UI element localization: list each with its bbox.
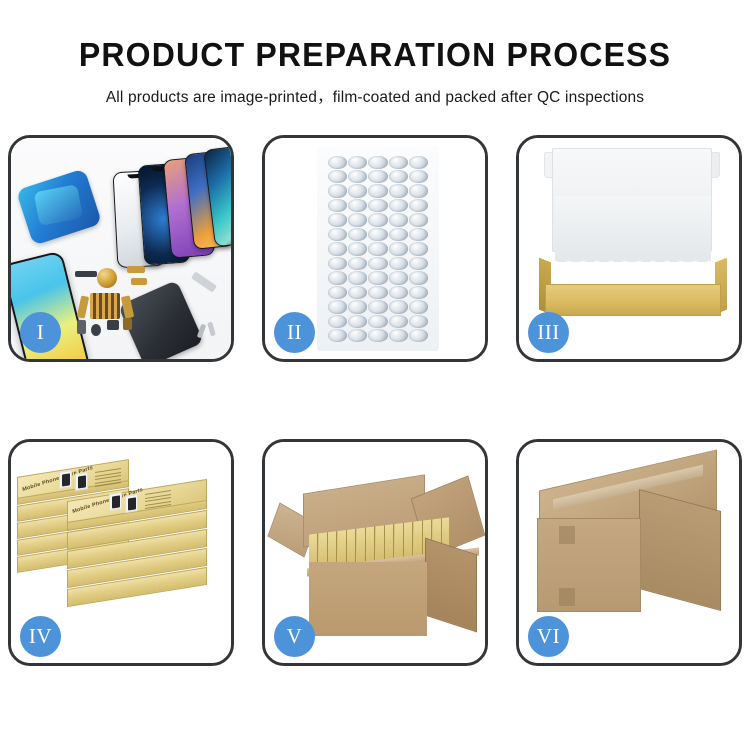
box-product-photo xyxy=(75,472,88,491)
step-badge-4: IV xyxy=(20,616,61,657)
process-step-panel-2: II xyxy=(262,135,488,362)
bubble xyxy=(348,228,367,241)
bubble xyxy=(348,257,367,270)
step-badge-3: III xyxy=(528,312,569,353)
process-step-panel-5: V xyxy=(262,439,488,666)
kraft-box-front xyxy=(545,284,721,316)
bubble xyxy=(328,242,347,255)
speaker-coil-part xyxy=(97,268,117,288)
process-step-panel-4: Mobile Phone Spare PartsMobile Phone Spa… xyxy=(8,439,234,666)
bubble xyxy=(409,184,428,197)
carton-flap-seam xyxy=(559,588,575,606)
bubble xyxy=(368,242,387,255)
box-product-photo xyxy=(125,494,138,513)
bubble xyxy=(368,199,387,212)
bubble xyxy=(328,271,347,284)
bubble xyxy=(328,315,347,328)
bubble xyxy=(389,300,408,313)
bubble xyxy=(348,329,367,342)
step-badge-1: I xyxy=(20,312,61,353)
bubble xyxy=(409,228,428,241)
bubble xyxy=(409,242,428,255)
carton-front xyxy=(309,562,427,636)
connector-grid-part xyxy=(90,293,120,319)
box-product-photo xyxy=(59,470,72,489)
bubble xyxy=(348,286,367,299)
bubble xyxy=(389,315,408,328)
bubble xyxy=(348,184,367,197)
bubble xyxy=(328,156,347,169)
carton-side-right xyxy=(425,538,477,633)
bubble xyxy=(328,213,347,226)
bubble xyxy=(328,228,347,241)
bubble xyxy=(409,257,428,270)
bubble xyxy=(368,300,387,313)
carton-flap-seam xyxy=(559,526,575,544)
bubble xyxy=(328,170,347,183)
bubble-wrapped-contents xyxy=(549,256,717,286)
header: PRODUCT PREPARATION PROCESS All products… xyxy=(0,0,750,107)
bubble xyxy=(328,300,347,313)
bubble xyxy=(409,213,428,226)
bubble xyxy=(389,329,408,342)
bubble xyxy=(348,242,367,255)
bubble xyxy=(328,184,347,197)
bubble xyxy=(389,257,408,270)
step-badge-2: II xyxy=(274,312,315,353)
bubble xyxy=(328,257,347,270)
bubble xyxy=(368,271,387,284)
bubble xyxy=(389,213,408,226)
bubble xyxy=(409,199,428,212)
spare-part xyxy=(107,320,119,330)
bubble xyxy=(409,156,428,169)
bubble-wrap-pouch xyxy=(317,146,439,351)
bubble xyxy=(368,156,387,169)
spare-part xyxy=(131,278,147,285)
step-badge-5: V xyxy=(274,616,315,657)
bubble xyxy=(368,315,387,328)
bubble xyxy=(368,286,387,299)
product-preparation-infographic: PRODUCT PREPARATION PROCESS All products… xyxy=(0,0,750,750)
bubble xyxy=(368,329,387,342)
bubble xyxy=(348,271,367,284)
foam-insert xyxy=(555,196,711,262)
process-steps-grid: I II III xyxy=(8,135,742,666)
bubble xyxy=(389,170,408,183)
bubble xyxy=(389,228,408,241)
step-badge-6: VI xyxy=(528,616,569,657)
sealed-carton-side xyxy=(639,489,721,611)
bubble xyxy=(328,329,347,342)
spare-part xyxy=(91,324,101,336)
bubble xyxy=(328,286,347,299)
bubble xyxy=(368,228,387,241)
bubble xyxy=(389,286,408,299)
bubble xyxy=(409,329,428,342)
bubble xyxy=(348,213,367,226)
spare-part xyxy=(75,271,97,277)
bubble xyxy=(389,156,408,169)
bubble xyxy=(409,271,428,284)
bubble xyxy=(368,257,387,270)
bubble xyxy=(368,213,387,226)
spare-part xyxy=(77,320,86,334)
bubble xyxy=(409,170,428,183)
page-title: PRODUCT PREPARATION PROCESS xyxy=(11,36,739,74)
spare-part xyxy=(127,266,145,273)
bubble xyxy=(348,199,367,212)
bubble xyxy=(389,184,408,197)
sealed-carton-front xyxy=(537,518,641,612)
bubble-field xyxy=(327,155,429,343)
process-step-panel-6: VI xyxy=(516,439,742,666)
bubble xyxy=(389,271,408,284)
bubble xyxy=(409,286,428,299)
bubble xyxy=(368,170,387,183)
bubble xyxy=(389,199,408,212)
bubble xyxy=(348,170,367,183)
process-step-panel-1: I xyxy=(8,135,234,362)
bubble xyxy=(368,184,387,197)
process-step-panel-3: III xyxy=(516,135,742,362)
page-subtitle: All products are image-printed，film-coat… xyxy=(0,85,750,107)
bubble xyxy=(328,199,347,212)
bubble xyxy=(348,300,367,313)
bubble xyxy=(409,300,428,313)
bubble xyxy=(389,242,408,255)
spare-part xyxy=(123,318,132,330)
box-product-photo xyxy=(109,492,122,511)
bubble xyxy=(409,315,428,328)
bubble xyxy=(348,156,367,169)
bubble xyxy=(348,315,367,328)
